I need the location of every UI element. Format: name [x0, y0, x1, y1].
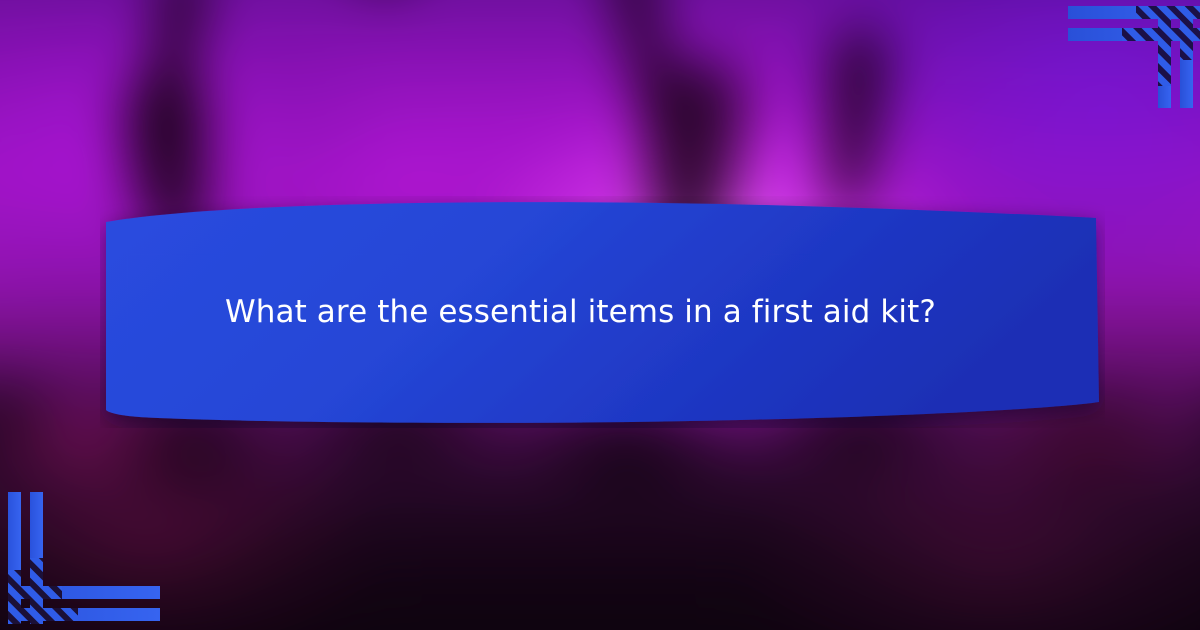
question-card: What are the essential items in a first …: [100, 196, 1105, 428]
bottom-vignette: [0, 460, 1200, 630]
share-card-canvas: What are the essential items in a first …: [0, 0, 1200, 630]
question-text: What are the essential items in a first …: [225, 196, 1025, 428]
